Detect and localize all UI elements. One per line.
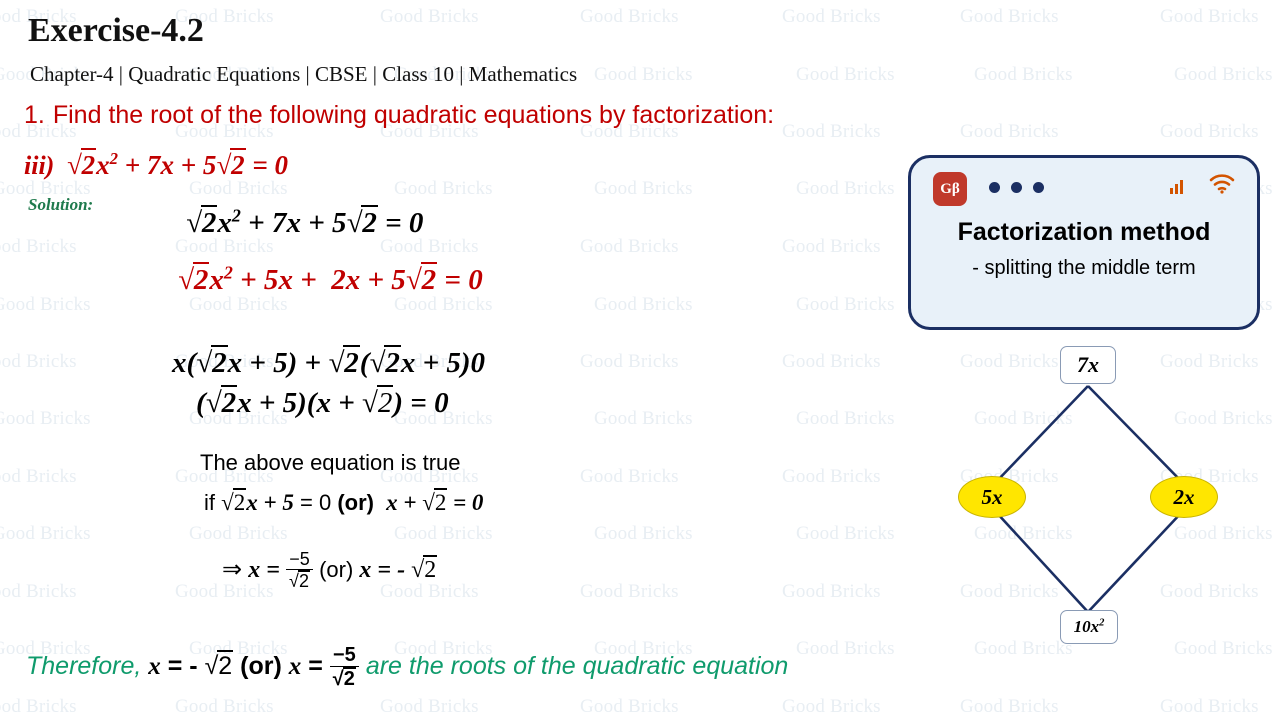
diagram-node-right-label: 2x: [1174, 485, 1195, 510]
diagram-node-left-label: 5x: [982, 485, 1003, 510]
diagram-node-bottom: 10x2: [1060, 610, 1118, 644]
question-line: 1.Find the root of the following quadrat…: [24, 101, 774, 130]
fraction-numerator: −5: [286, 550, 313, 569]
solution-step-1: √2x2 + 7x + 5√2 = 0: [186, 205, 423, 240]
solution-label: Solution:: [28, 195, 93, 215]
conclusion-line: Therefore, x = - √2 (or) x = −5 √2 are t…: [26, 645, 788, 690]
conclusion-fraction-numerator: −5: [330, 645, 359, 666]
conclusion-prefix: Therefore,: [26, 652, 141, 680]
callout-title: Factorization method: [911, 218, 1257, 247]
splitting-diagram: 7x 5x 2x 10x2: [900, 340, 1270, 660]
wifi-icon: [1209, 174, 1235, 199]
statement-equals: = 0: [300, 490, 331, 515]
statement-line-1: The above equation is true: [200, 450, 461, 476]
question-number: 1.: [24, 101, 45, 129]
conclusion-suffix: are the roots of the quadratic equation: [366, 652, 789, 680]
solution-step-4: (√2x + 5)(x + √2) = 0: [196, 385, 449, 420]
factorization-callout-card: Gβ Factorization method - splitting the …: [908, 155, 1260, 330]
page-subtitle: Chapter-4 | Quadratic Equations | CBSE |…: [30, 62, 577, 87]
callout-subtitle: - splitting the middle term: [911, 257, 1257, 280]
three-dots-icon: [989, 182, 1044, 193]
solution-step-2: √2x2 + 5x + 2x + 5√2 = 0: [178, 262, 483, 297]
conclusion-fraction: −5 √2: [330, 645, 359, 690]
diagram-node-bottom-label: 10x2: [1074, 617, 1105, 637]
solution-step-3: x(√2x + 5) + √2(√2x + 5)0: [172, 345, 485, 380]
statement-or-2: (or): [319, 557, 353, 582]
statement-line-2: if √2x + 5 = 0 (or) x + √2 = 0: [204, 488, 483, 516]
statement-line-3: ⇒ x = −5 √2 (or) x = - √2: [222, 550, 437, 591]
diagram-node-top-label: 7x: [1077, 352, 1099, 378]
diagram-node-right: 2x: [1150, 476, 1218, 518]
diagram-node-left: 5x: [958, 476, 1026, 518]
part-label-text: iii): [24, 151, 54, 180]
question-text: Find the root of the following quadratic…: [53, 101, 774, 129]
implies-arrow: ⇒: [222, 556, 242, 583]
conclusion-fraction-denominator: √2: [330, 666, 359, 690]
diagram-node-top: 7x: [1060, 346, 1116, 384]
signal-bars-icon: [1169, 176, 1189, 199]
statement-or: (or): [337, 490, 374, 515]
cube-logo-icon: Gβ: [933, 172, 967, 206]
statement-if: if: [204, 490, 215, 515]
fraction-denominator: √2: [286, 569, 313, 591]
part-equation: √2x2 + 7x + 5√2 = 0: [67, 150, 288, 180]
page-title: Exercise-4.2: [28, 12, 204, 50]
conclusion-or: (or): [240, 652, 282, 680]
fraction-minus-five-over-root-two: −5 √2: [286, 550, 313, 591]
question-part: iii) √2x2 + 7x + 5√2 = 0: [24, 148, 288, 181]
